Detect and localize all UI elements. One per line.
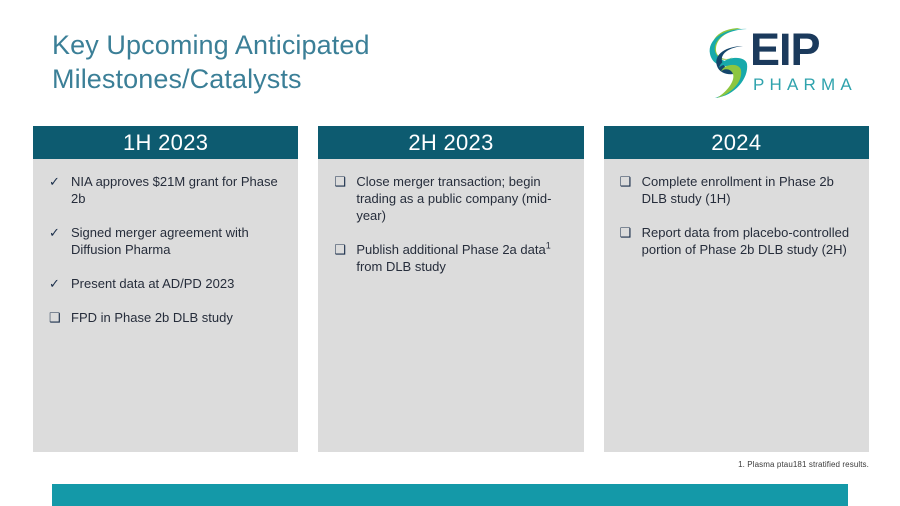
list-item: ✓ Signed merger agreement with Diffusion… (47, 224, 286, 258)
checkmark-icon: ✓ (47, 224, 71, 241)
list-item-text: Close merger transaction; begin trading … (356, 173, 571, 224)
list-item-text: NIA approves $21M grant for Phase 2b (71, 173, 286, 207)
logo-secondary-text: PHARMA (753, 75, 868, 95)
checkbox-empty-icon: ❑ (332, 241, 356, 258)
column-header-2h-2023: 2H 2023 (318, 126, 583, 159)
list-item-text: Present data at AD/PD 2023 (71, 275, 286, 292)
checkmark-icon: ✓ (47, 275, 71, 292)
page-title-line-2: Milestones/Catalysts (52, 62, 482, 96)
milestone-column-2024: 2024 ❑ Complete enrollment in Phase 2b D… (604, 126, 869, 452)
bottom-accent-bar (52, 484, 848, 506)
list-item-text: Publish additional Phase 2a data1 from D… (356, 241, 571, 275)
column-body-2h-2023: ❑ Close merger transaction; begin tradin… (318, 159, 583, 452)
column-body-2024: ❑ Complete enrollment in Phase 2b DLB st… (604, 159, 869, 452)
list-item-text-part-1: Publish additional Phase 2a data (356, 242, 545, 257)
list-item-text-part-2: from DLB study (356, 259, 446, 274)
list-item: ✓ NIA approves $21M grant for Phase 2b (47, 173, 286, 207)
column-header-1h-2023: 1H 2023 (33, 126, 298, 159)
footnote: 1. Plasma ptau181 stratified results. (738, 459, 869, 470)
milestone-column-1h-2023: 1H 2023 ✓ NIA approves $21M grant for Ph… (33, 126, 298, 452)
page-title-line-1: Key Upcoming Anticipated (52, 28, 482, 62)
checkbox-empty-icon: ❑ (47, 309, 71, 326)
list-item: ❑ Report data from placebo-controlled po… (618, 224, 857, 258)
list-item: ❑ FPD in Phase 2b DLB study (47, 309, 286, 326)
milestones-columns: 1H 2023 ✓ NIA approves $21M grant for Ph… (33, 126, 869, 452)
milestone-column-2h-2023: 2H 2023 ❑ Close merger transaction; begi… (318, 126, 583, 452)
page-title: Key Upcoming Anticipated Milestones/Cata… (52, 28, 482, 96)
list-item-text: FPD in Phase 2b DLB study (71, 309, 286, 326)
list-item: ❑ Publish additional Phase 2a data1 from… (332, 241, 571, 275)
eip-swirl-icon (703, 24, 755, 102)
eip-pharma-logo: EIP PHARMA (703, 24, 865, 106)
list-item-text: Report data from placebo-controlled port… (642, 224, 857, 258)
list-item: ❑ Close merger transaction; begin tradin… (332, 173, 571, 224)
list-item-text: Complete enrollment in Phase 2b DLB stud… (642, 173, 857, 207)
column-header-2024: 2024 (604, 126, 869, 159)
list-item-text: Signed merger agreement with Diffusion P… (71, 224, 286, 258)
checkmark-icon: ✓ (47, 173, 71, 190)
checkbox-empty-icon: ❑ (332, 173, 356, 190)
column-body-1h-2023: ✓ NIA approves $21M grant for Phase 2b ✓… (33, 159, 298, 452)
footnote-ref: 1 (546, 241, 551, 251)
logo-wordmark: EIP PHARMA (750, 26, 868, 95)
logo-primary-text: EIP (750, 26, 868, 73)
checkbox-empty-icon: ❑ (618, 173, 642, 190)
list-item: ✓ Present data at AD/PD 2023 (47, 275, 286, 292)
checkbox-empty-icon: ❑ (618, 224, 642, 241)
list-item: ❑ Complete enrollment in Phase 2b DLB st… (618, 173, 857, 207)
